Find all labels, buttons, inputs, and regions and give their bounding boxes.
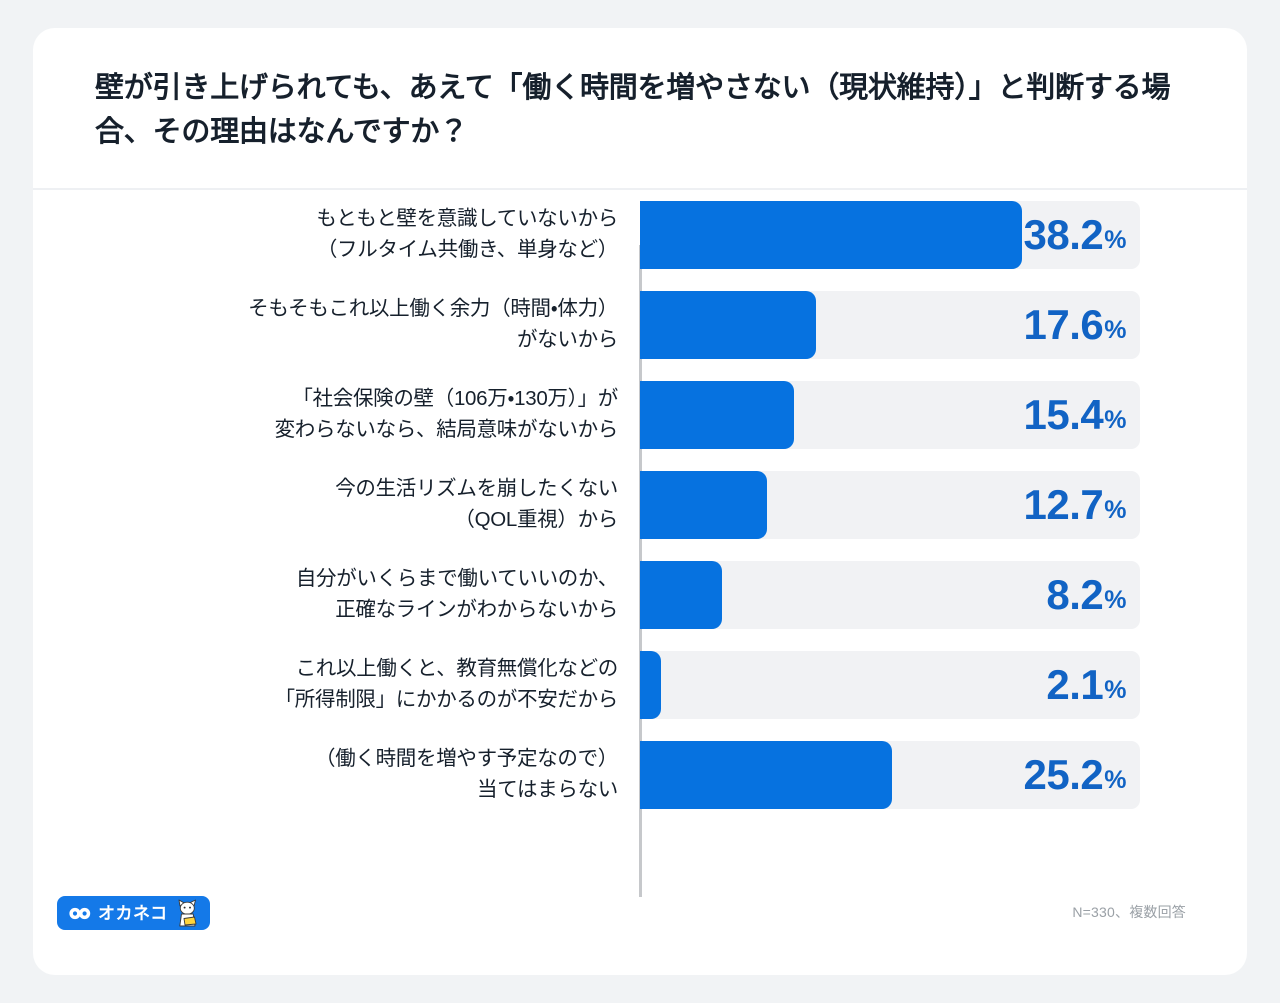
bar-fill	[640, 291, 816, 359]
bar-value-label: 12.7%	[1024, 471, 1126, 539]
bar-category-label: 「社会保険の壁（106万・130万）」が 変わらないなら、結局意味がないから	[148, 370, 618, 460]
bar-value-percent-sign: %	[1104, 408, 1126, 433]
bar-fill	[640, 201, 1022, 269]
okaneko-logo[interactable]: オカネコ	[57, 896, 210, 930]
chart-card: 壁が引き上げられても、あえて「働く時間を増やさない（現状維持）」と判断する場合、…	[33, 28, 1247, 975]
bar-value-number: 17.6	[1024, 304, 1104, 346]
bar-value-label: 8.2%	[1046, 561, 1126, 629]
bar-category-label: そもそもこれ以上働く余力（時間・体力） がないから	[148, 280, 618, 370]
bar-fill	[640, 561, 722, 629]
bar-area: 17.6%	[640, 291, 1140, 359]
sample-size-note: N=330、複数回答	[1072, 902, 1186, 922]
bar-category-label: 今の生活リズムを崩したくない （QOL重視）から	[148, 460, 618, 550]
bar-area: 8.2%	[640, 561, 1140, 629]
bar-fill	[640, 741, 892, 809]
bar-row-list: もともと壁を意識していないから （フルタイム共働き、単身など）38.2%そもそも…	[33, 190, 1247, 820]
bar-value-percent-sign: %	[1104, 588, 1126, 613]
bar-row: もともと壁を意識していないから （フルタイム共働き、単身など）38.2%	[33, 190, 1247, 280]
bar-value-number: 2.1	[1046, 664, 1103, 706]
bar-value-number: 15.4	[1024, 394, 1104, 436]
bar-area: 2.1%	[640, 651, 1140, 719]
bar-row: （働く時間を増やす予定なので） 当てはまらない25.2%	[33, 730, 1247, 820]
bar-value-percent-sign: %	[1104, 498, 1126, 523]
bar-value-percent-sign: %	[1104, 678, 1126, 703]
bar-area: 12.7%	[640, 471, 1140, 539]
bar-category-label: これ以上働くと、教育無償化などの 「所得制限」にかかるのが不安だから	[148, 640, 618, 730]
bar-value-label: 15.4%	[1024, 381, 1126, 449]
bar-row: これ以上働くと、教育無償化などの 「所得制限」にかかるのが不安だから2.1%	[33, 640, 1247, 730]
bar-area: 38.2%	[640, 201, 1140, 269]
bar-value-number: 38.2	[1024, 214, 1104, 256]
bar-value-label: 38.2%	[1024, 201, 1126, 269]
infinity-icon	[69, 907, 91, 920]
bar-fill	[640, 381, 794, 449]
bar-area: 15.4%	[640, 381, 1140, 449]
bar-category-label: もともと壁を意識していないから （フルタイム共働き、単身など）	[148, 190, 618, 280]
cat-mascot-icon	[176, 899, 200, 927]
bar-value-label: 2.1%	[1046, 651, 1126, 719]
bar-value-number: 8.2	[1046, 574, 1103, 616]
bar-fill	[640, 471, 767, 539]
page-title: 壁が引き上げられても、あえて「働く時間を増やさない（現状維持）」と判断する場合、…	[95, 66, 1185, 154]
bar-fill	[640, 651, 661, 719]
bar-area: 25.2%	[640, 741, 1140, 809]
bar-value-label: 17.6%	[1024, 291, 1126, 359]
chart-plot-area: もともと壁を意識していないから （フルタイム共働き、単身など）38.2%そもそも…	[33, 190, 1247, 890]
bar-category-label: （働く時間を増やす予定なので） 当てはまらない	[148, 730, 618, 820]
bar-value-percent-sign: %	[1104, 318, 1126, 343]
bar-row: そもそもこれ以上働く余力（時間・体力） がないから17.6%	[33, 280, 1247, 370]
bar-row: 自分がいくらまで働いていいのか、 正確なラインがわからないから8.2%	[33, 550, 1247, 640]
bar-value-number: 25.2	[1024, 754, 1104, 796]
logo-label: オカネコ	[98, 905, 168, 922]
bar-value-percent-sign: %	[1104, 768, 1126, 793]
bar-row: 今の生活リズムを崩したくない （QOL重視）から12.7%	[33, 460, 1247, 550]
card-header: 壁が引き上げられても、あえて「働く時間を増やさない（現状維持）」と判断する場合、…	[33, 28, 1247, 188]
bar-category-label: 自分がいくらまで働いていいのか、 正確なラインがわからないから	[148, 550, 618, 640]
bar-value-label: 25.2%	[1024, 741, 1126, 809]
card-footer: オカネコ N=330、複数回答	[33, 890, 1247, 975]
bar-value-number: 12.7	[1024, 484, 1104, 526]
bar-row: 「社会保険の壁（106万・130万）」が 変わらないなら、結局意味がないから15…	[33, 370, 1247, 460]
bar-value-percent-sign: %	[1104, 228, 1126, 253]
